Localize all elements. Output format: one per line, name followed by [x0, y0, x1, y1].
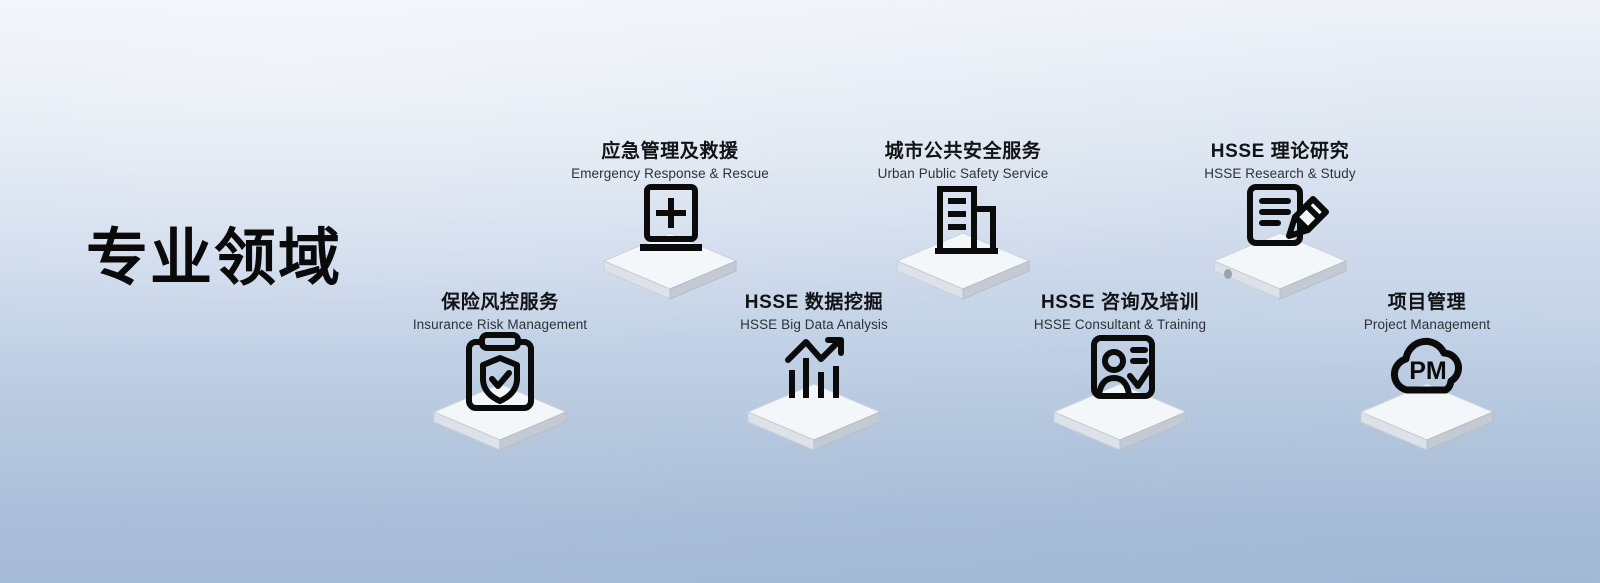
item-label-en: HSSE Research & Study — [1150, 167, 1410, 182]
document-pencil-icon — [1200, 195, 1360, 299]
page-title: 专业领域 — [86, 228, 342, 290]
item-icon-tile[interactable] — [420, 346, 580, 450]
domain-item-emergency-response-rescue[interactable]: 应急管理及救援 Emergency Response & Rescue — [540, 142, 800, 299]
item-label-cn: 应急管理及救援 — [540, 142, 800, 163]
pm-badge-text: PM — [1409, 357, 1447, 385]
item-label-en: HSSE Consultant & Training — [990, 318, 1250, 333]
item-label-cn: HSSE 咨询及培训 — [990, 293, 1250, 314]
item-labels: 应急管理及救援 Emergency Response & Rescue — [540, 142, 800, 181]
person-id-card-check-icon — [1040, 346, 1200, 450]
item-label-en: Project Management — [1297, 318, 1557, 333]
item-label-cn: 项目管理 — [1297, 293, 1557, 314]
item-icon-tile[interactable] — [883, 195, 1043, 299]
item-labels: 城市公共安全服务 Urban Public Safety Service — [833, 142, 1093, 181]
item-label-en: HSSE Big Data Analysis — [684, 318, 944, 333]
item-icon-tile[interactable] — [734, 346, 894, 450]
item-label-en: Emergency Response & Rescue — [540, 167, 800, 182]
item-labels: HSSE 数据挖掘 HSSE Big Data Analysis — [684, 293, 944, 332]
domain-item-project-management[interactable]: 项目管理 Project Management PM — [1297, 293, 1557, 450]
domain-item-urban-public-safety-service[interactable]: 城市公共安全服务 Urban Public Safety Service — [833, 142, 1093, 299]
item-icon-tile[interactable] — [590, 195, 750, 299]
domain-item-hsse-research-study[interactable]: HSSE 理论研究 HSSE Research & Study — [1150, 142, 1410, 299]
item-icon-tile[interactable]: PM — [1347, 346, 1507, 450]
domain-item-hsse-big-data-analysis[interactable]: HSSE 数据挖掘 HSSE Big Data Analysis — [684, 293, 944, 450]
city-buildings-icon — [883, 195, 1043, 299]
item-icon-tile[interactable] — [1200, 195, 1360, 299]
item-label-cn: 城市公共安全服务 — [833, 142, 1093, 163]
bar-chart-trend-up-icon — [734, 346, 894, 450]
item-labels: HSSE 咨询及培训 HSSE Consultant & Training — [990, 293, 1250, 332]
domain-item-hsse-consultant-training[interactable]: HSSE 咨询及培训 HSSE Consultant & Training — [990, 293, 1250, 450]
item-label-en: Urban Public Safety Service — [833, 167, 1093, 182]
clipboard-shield-check-icon — [420, 346, 580, 450]
item-label-cn: HSSE 理论研究 — [1150, 142, 1410, 163]
item-icon-tile[interactable] — [1040, 346, 1200, 450]
domain-item-insurance-risk-management[interactable]: 保险风控服务 Insurance Risk Management — [370, 293, 630, 450]
cloud-pm-icon: PM — [1347, 346, 1507, 450]
first-aid-monitor-icon — [590, 195, 750, 299]
professional-domains-banner: 专业领域 应急管理及救援 Emergency Response & Rescue — [0, 0, 1600, 583]
item-label-cn: HSSE 数据挖掘 — [684, 293, 944, 314]
item-labels: HSSE 理论研究 HSSE Research & Study — [1150, 142, 1410, 181]
item-label-cn: 保险风控服务 — [370, 293, 630, 314]
item-label-en: Insurance Risk Management — [370, 318, 630, 333]
item-labels: 项目管理 Project Management — [1297, 293, 1557, 332]
item-labels: 保险风控服务 Insurance Risk Management — [370, 293, 630, 332]
